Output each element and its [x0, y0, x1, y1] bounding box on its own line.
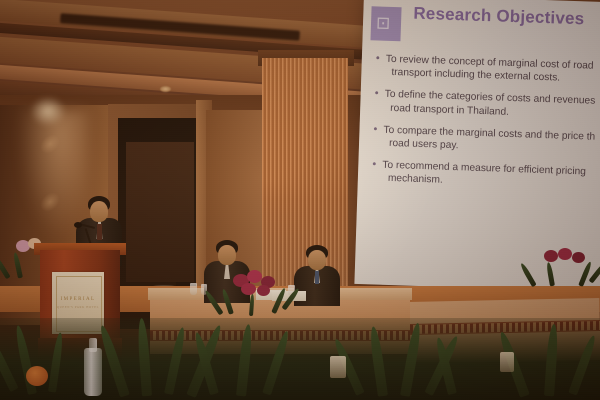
door-panel	[126, 142, 194, 282]
right-flower-arrangement	[530, 248, 600, 290]
water-glass	[190, 283, 197, 295]
bullet-text: To review the concept of marginal cost o…	[385, 53, 594, 86]
speaker-head	[90, 201, 108, 222]
wall-light-wash	[18, 110, 88, 240]
slide-bullet-item: • To define the categories of costs and …	[374, 88, 600, 122]
table-flower-arrangement	[215, 270, 299, 316]
slide-bullet-list: • To review the concept of marginal cost…	[371, 52, 600, 202]
downlight-icon	[160, 86, 171, 92]
candle-holder	[500, 352, 514, 372]
glass-bottle	[84, 348, 102, 396]
plaque-venue-subtitle: QUEEN'S PARK HOTEL	[52, 305, 104, 309]
bullet-text: To compare the marginal costs and the pr…	[383, 124, 596, 157]
microphone-icon	[74, 222, 82, 228]
conference-presentation-photo: ⊡ Research Objectives • To review the co…	[0, 0, 600, 400]
slide-bullet-item: • To recommend a measure for efficient p…	[372, 159, 600, 193]
panelist-right-head	[308, 250, 326, 270]
slide-bullet-item: • To compare the marginal costs and the …	[373, 123, 600, 157]
bullet-text: To recommend a measure for efficient pri…	[382, 159, 586, 192]
slide-logo-icon: ⊡	[376, 11, 397, 36]
orange-flower	[26, 366, 48, 386]
wall-spotlight	[30, 96, 66, 126]
panelist-right-tie	[315, 271, 319, 284]
candle-holder	[330, 356, 346, 378]
speaker-tie	[97, 224, 102, 240]
plaque-venue-name: IMPERIAL	[52, 297, 104, 302]
bullet-text: To define the categories of costs and re…	[384, 88, 595, 121]
panelist-left-head	[218, 245, 236, 265]
